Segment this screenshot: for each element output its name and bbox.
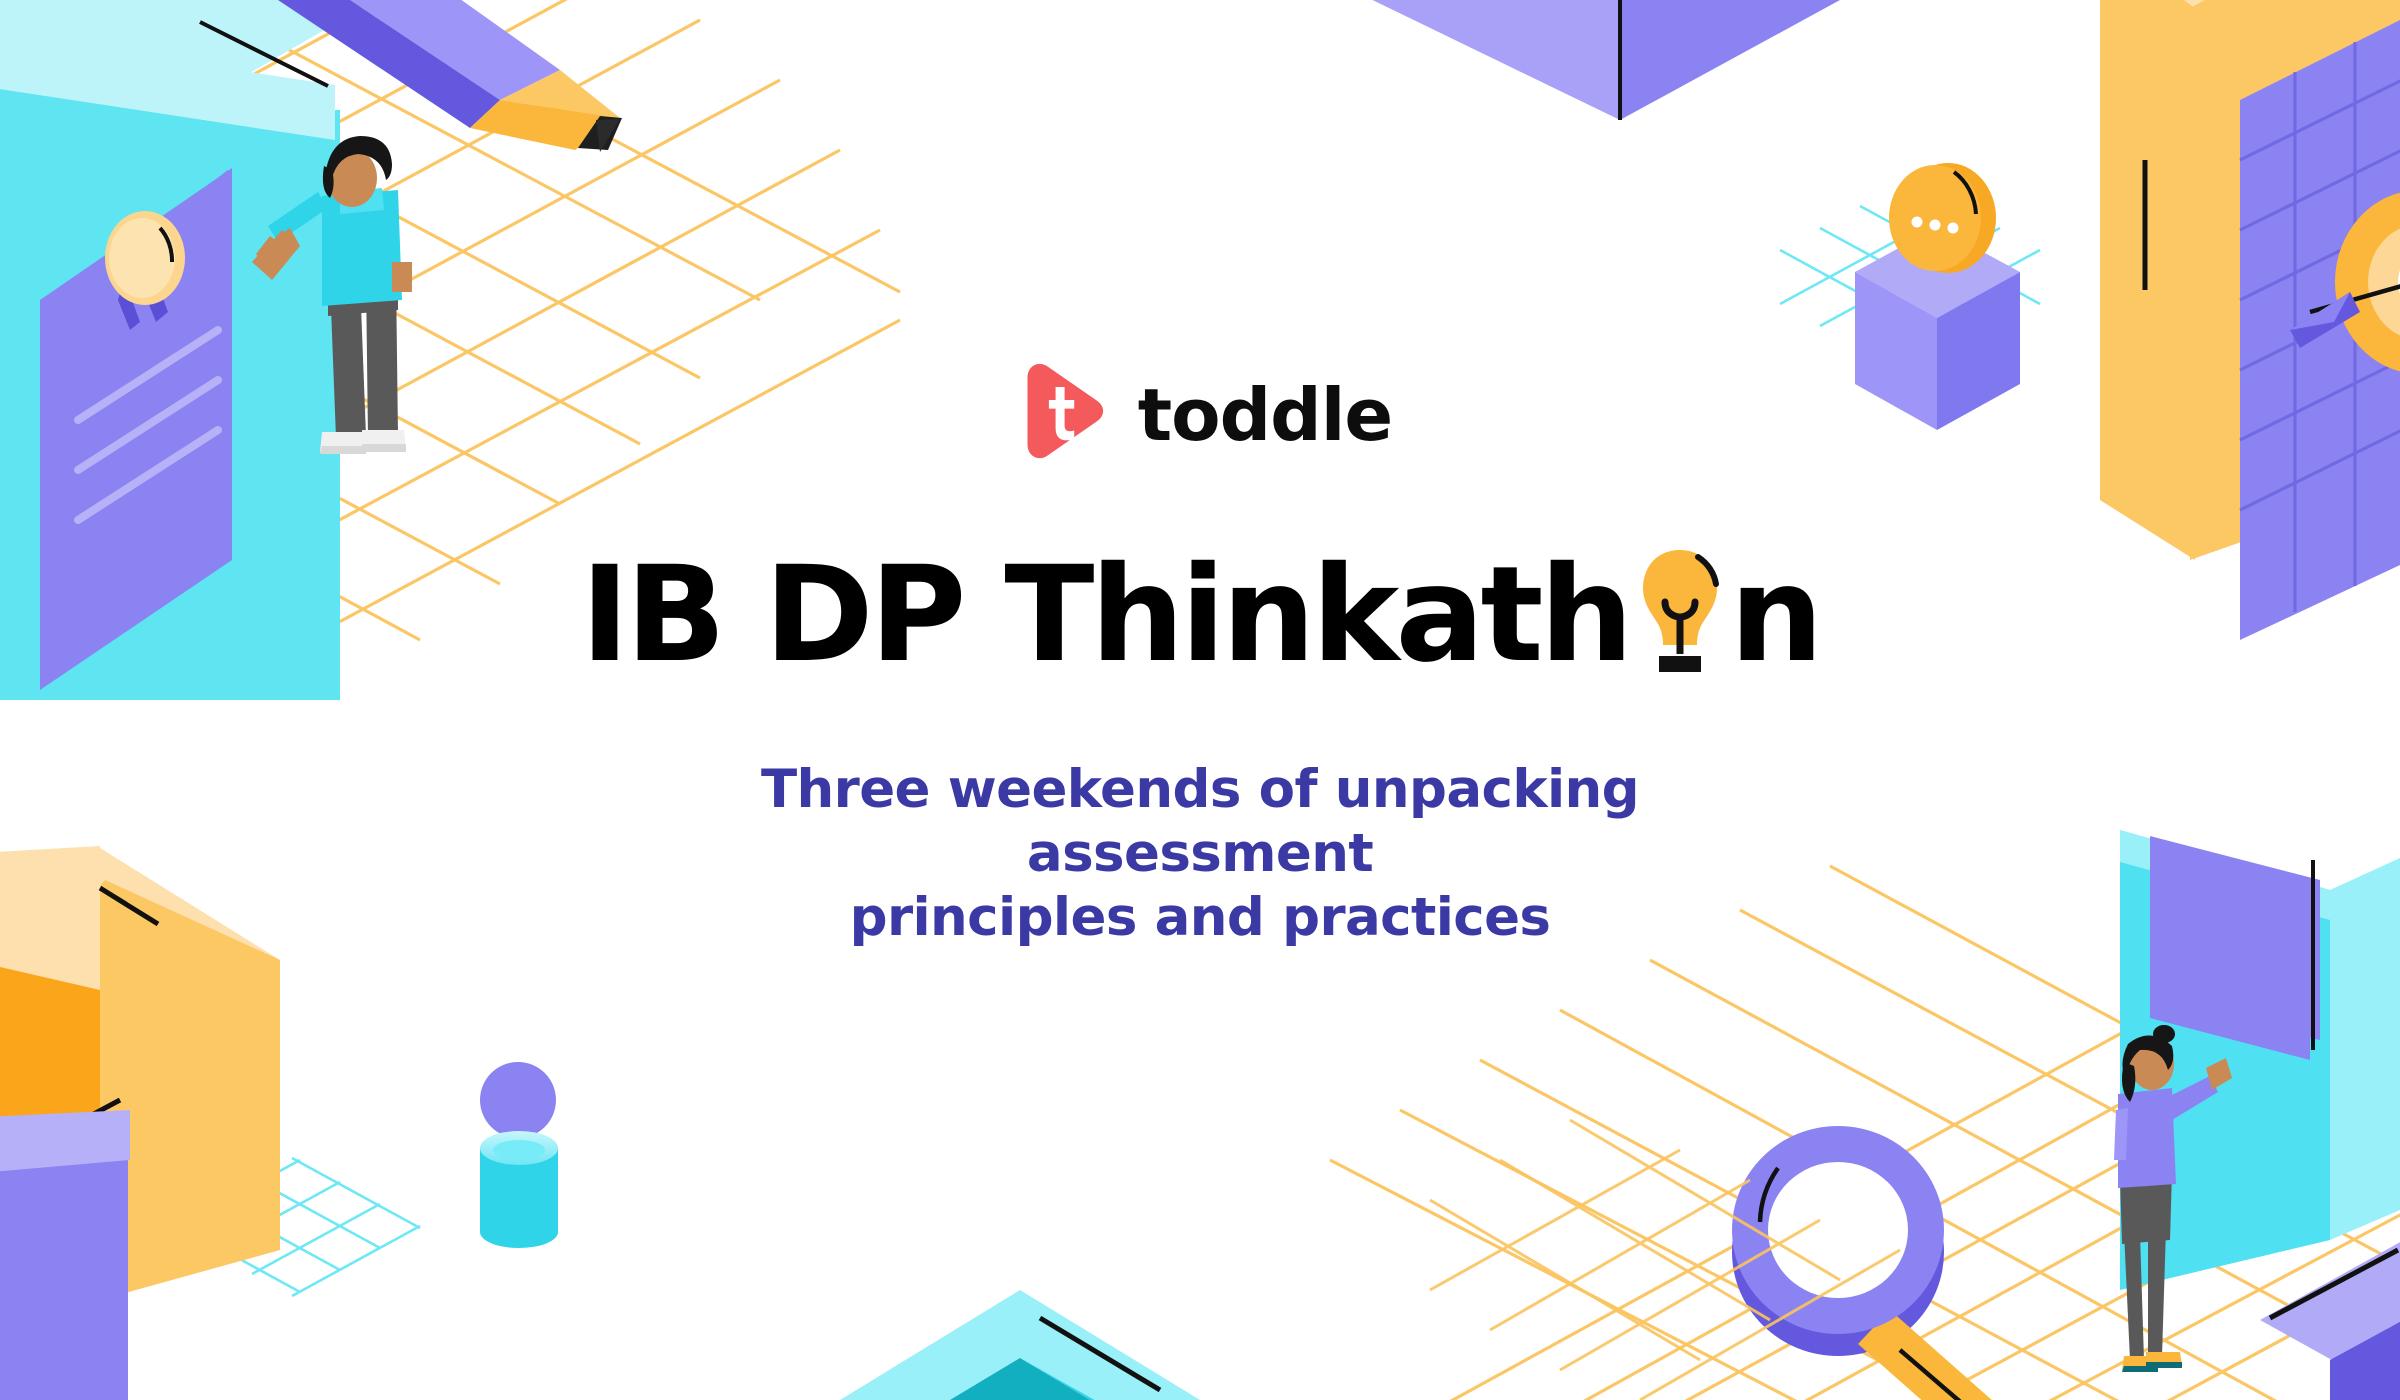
- page-title: IB DP Thinkath n: [580, 528, 1819, 681]
- hero-content: toddle IB DP Thinkath n Three weekends o…: [0, 0, 2400, 1400]
- toddle-play-mark-icon: [1008, 359, 1112, 463]
- page-subtitle-line-1: Three weekends of unpacking assessment: [650, 758, 1750, 885]
- page-subtitle-line-2: principles and practices: [650, 886, 1750, 950]
- lightbulb-icon: [1632, 528, 1728, 660]
- page-title-part1: IB DP Thinkath: [580, 549, 1629, 681]
- brand-logo: toddle: [1008, 356, 1392, 466]
- poster-canvas: toddle IB DP Thinkath n Three weekends o…: [0, 0, 2400, 1400]
- page-title-part2: n: [1730, 549, 1820, 681]
- page-subtitle: Three weekends of unpacking assessment p…: [650, 758, 1750, 949]
- brand-wordmark: toddle: [1138, 379, 1392, 451]
